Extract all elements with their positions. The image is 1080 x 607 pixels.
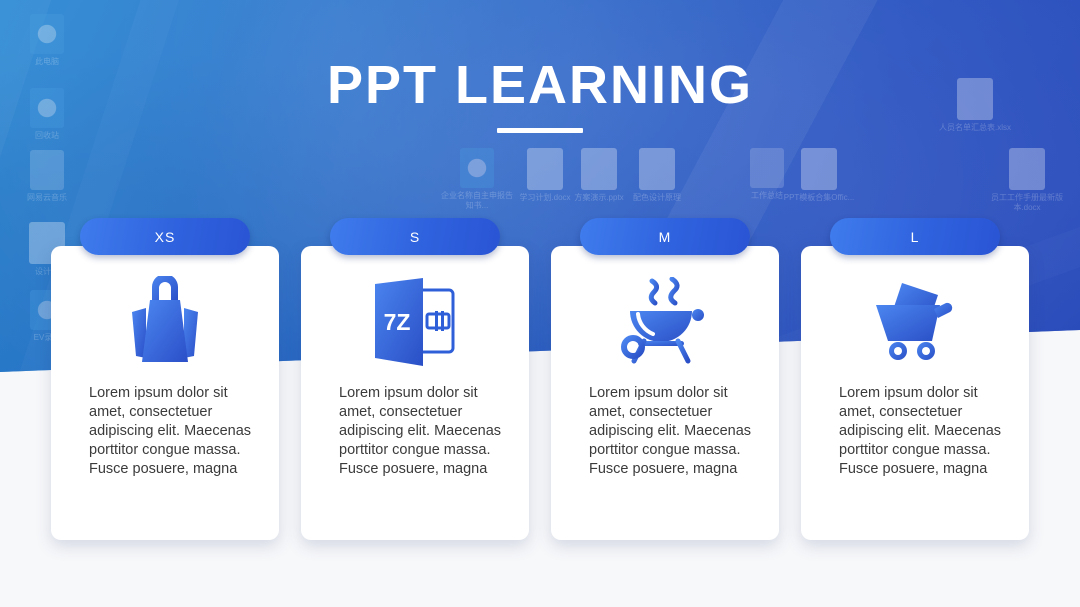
bbq-grill-icon (618, 277, 712, 367)
card-tab-label: M (659, 229, 672, 245)
card-tab-s[interactable]: S (330, 218, 500, 255)
archive-icon-label: 7Z (384, 309, 411, 335)
card-column-s: S (301, 218, 529, 543)
page-title: PPT LEARNING (0, 56, 1080, 114)
card-icon-area (51, 246, 279, 384)
card-tab-xs[interactable]: XS (80, 218, 250, 255)
card-icon-area: 7Z (301, 246, 529, 384)
card-body-text: Lorem ipsum dolor sit amet, consectetuer… (339, 384, 505, 479)
card-tab-l[interactable]: L (830, 218, 1000, 255)
title-block: PPT LEARNING (0, 56, 1080, 133)
card-tab-label: L (911, 229, 920, 245)
card-tab-label: S (410, 229, 420, 245)
card-tab-m[interactable]: M (580, 218, 750, 255)
card-column-xs: XS (51, 218, 279, 543)
shopping-cart-icon (868, 279, 962, 365)
card-m[interactable]: Lorem ipsum dolor sit amet, consectetuer… (551, 246, 779, 540)
card-body-text: Lorem ipsum dolor sit amet, consectetuer… (589, 384, 755, 479)
handbag-icon (122, 276, 208, 368)
card-xs[interactable]: Lorem ipsum dolor sit amet, consectetuer… (51, 246, 279, 540)
card-body-text: Lorem ipsum dolor sit amet, consectetuer… (839, 384, 1005, 479)
card-icon-area (801, 246, 1029, 384)
card-body-text: Lorem ipsum dolor sit amet, consectetuer… (89, 384, 255, 479)
title-underline (497, 128, 583, 133)
archive-7z-icon: 7Z (367, 278, 463, 366)
card-l[interactable]: Lorem ipsum dolor sit amet, consectetuer… (801, 246, 1029, 540)
card-column-l: L (801, 218, 1029, 543)
card-tab-label: XS (155, 229, 176, 245)
card-row: XS (51, 218, 1029, 543)
card-icon-area (551, 246, 779, 384)
card-column-m: M (551, 218, 779, 543)
presentation-slide: 此电脑回收站网易云音乐A设计稿EV录屏企业名称自主申报告知书...W学习计划.d… (0, 0, 1080, 607)
card-s[interactable]: 7Z Lorem ipsum dolor sit amet, consectet… (301, 246, 529, 540)
